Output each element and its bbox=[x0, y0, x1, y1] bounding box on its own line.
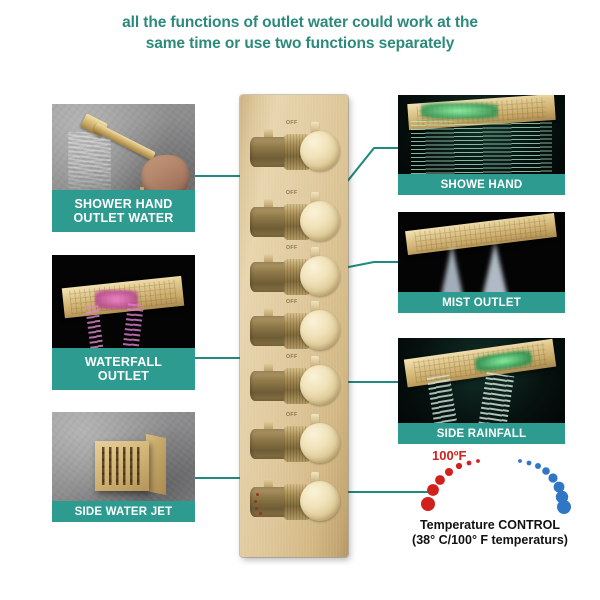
jet-side-plate bbox=[146, 434, 166, 495]
gauge-value: 100 bbox=[432, 448, 454, 463]
gauge-unit: ºF bbox=[454, 448, 467, 463]
valve-knob-2[interactable]: OFF bbox=[240, 191, 348, 245]
card-label-waterfall-outlet: WATERFALL OUTLET bbox=[52, 348, 195, 390]
card-side-water-jet[interactable]: SIDE WATER JET bbox=[52, 412, 195, 522]
temperature-scale-marks bbox=[254, 493, 276, 515]
gauge-value-label: 100ºF bbox=[432, 448, 466, 463]
knob-cap[interactable] bbox=[300, 201, 340, 241]
label-line-2: OUTLET WATER bbox=[73, 211, 173, 225]
knob-off-label: OFF bbox=[286, 245, 298, 251]
label-line-1: SHOWER HAND bbox=[73, 197, 173, 211]
valve-knob-1[interactable]: OFF bbox=[240, 121, 348, 175]
card-label-side-rainfall: SIDE RAINFALL bbox=[398, 423, 565, 444]
card-label-mist-outlet: MIST OUTLET bbox=[398, 292, 565, 313]
label-line-1: SIDE RAINFALL bbox=[437, 427, 527, 441]
knob-cap[interactable] bbox=[300, 481, 340, 521]
temperature-gauge bbox=[380, 450, 600, 516]
knob-cap[interactable] bbox=[300, 256, 340, 296]
knob-cap[interactable] bbox=[300, 365, 340, 405]
valve-knob-7-temperature[interactable] bbox=[240, 471, 348, 525]
hot-dots bbox=[421, 459, 480, 511]
label-line-1: SIDE WATER JET bbox=[75, 505, 173, 519]
temperature-caption-line-2: (38° C/100° F temperaturs) bbox=[380, 533, 600, 548]
mist-cone-right bbox=[482, 242, 508, 298]
knob-off-label: OFF bbox=[286, 354, 298, 360]
knob-cap[interactable] bbox=[300, 310, 340, 350]
label-line-2: OUTLET bbox=[85, 369, 162, 383]
knob-off-label: OFF bbox=[286, 190, 298, 196]
card-mist-outlet[interactable]: MIST OUTLET bbox=[398, 212, 565, 313]
knob-off-label: OFF bbox=[286, 412, 298, 418]
card-showe-hand[interactable]: SHOWE HAND bbox=[398, 95, 565, 195]
card-label-side-water-jet: SIDE WATER JET bbox=[52, 501, 195, 522]
jet-face-plate bbox=[95, 441, 149, 492]
mist-cone-left bbox=[441, 244, 463, 296]
thermostatic-valve-panel[interactable]: OFF OFF OFF OFF bbox=[240, 95, 348, 557]
led-glow-green bbox=[421, 103, 498, 119]
knob-cap[interactable] bbox=[300, 131, 340, 171]
card-shower-hand-outlet-water[interactable]: SHOWER HAND OUTLET WATER bbox=[52, 104, 195, 232]
card-label-shower-hand-outlet-water: SHOWER HAND OUTLET WATER bbox=[52, 190, 195, 232]
label-line-1: SHOWE HAND bbox=[441, 178, 523, 192]
cold-dots bbox=[518, 459, 571, 514]
card-side-rainfall[interactable]: SIDE RAINFALL bbox=[398, 338, 565, 444]
card-label-showe-hand: SHOWE HAND bbox=[398, 174, 565, 195]
label-line-1: MIST OUTLET bbox=[442, 296, 521, 310]
label-line-1: WATERFALL bbox=[85, 355, 162, 369]
valve-knob-5[interactable]: OFF bbox=[240, 355, 348, 409]
valve-knob-3[interactable]: OFF bbox=[240, 246, 348, 300]
knob-cap[interactable] bbox=[300, 423, 340, 463]
rainfall-streaks bbox=[411, 121, 551, 175]
temperature-control-group: 100ºF Temperature CONTROL (38° C/100° F … bbox=[380, 450, 600, 562]
knob-off-label: OFF bbox=[286, 120, 298, 126]
temperature-caption-line-1: Temperature CONTROL bbox=[380, 518, 600, 533]
card-waterfall-outlet[interactable]: WATERFALL OUTLET bbox=[52, 255, 195, 390]
valve-knob-6[interactable]: OFF bbox=[240, 413, 348, 467]
infographic-canvas: all the functions of outlet water could … bbox=[0, 0, 600, 600]
valve-knob-4[interactable]: OFF bbox=[240, 300, 348, 354]
knob-off-label: OFF bbox=[286, 299, 298, 305]
